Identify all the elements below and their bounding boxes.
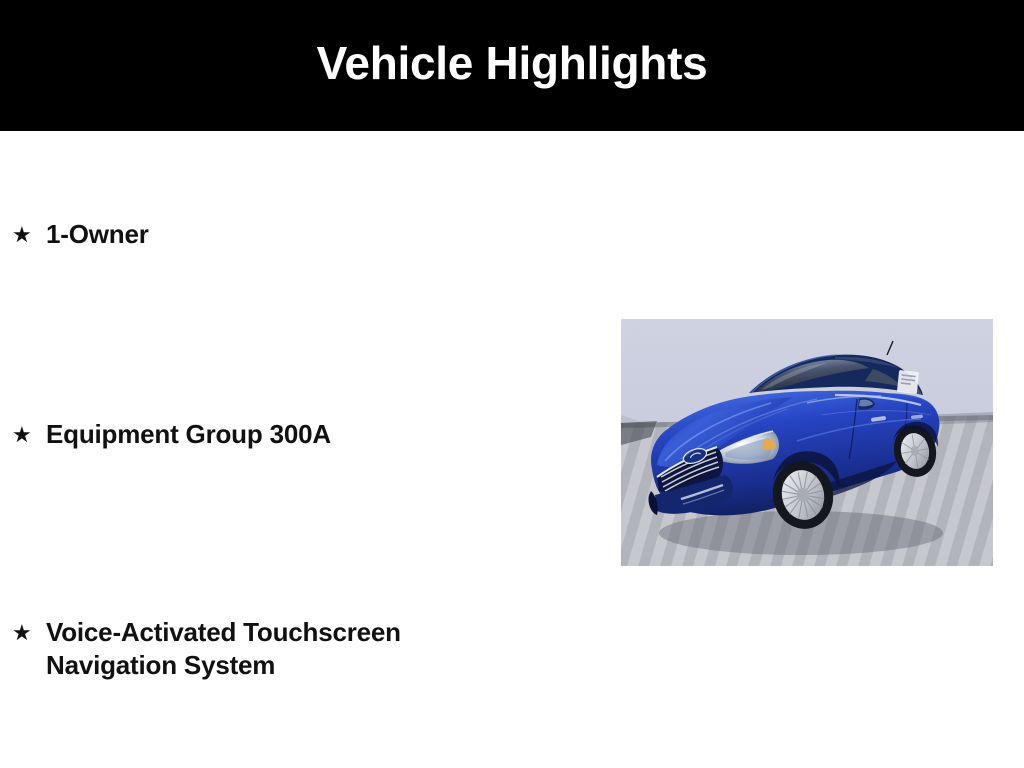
page-title: Vehicle Highlights	[317, 40, 708, 92]
highlight-label: 1-Owner	[46, 218, 149, 251]
vehicle-photo	[621, 319, 993, 566]
list-item: ★ Equipment Group 300A	[12, 418, 331, 451]
header-bar: Vehicle Highlights	[0, 0, 1024, 131]
star-bullet-icon: ★	[12, 218, 46, 251]
list-item: ★ 1-Owner	[12, 218, 149, 251]
star-bullet-icon: ★	[12, 616, 46, 649]
vehicle-photo-illustration	[621, 319, 993, 566]
star-bullet-icon: ★	[12, 418, 46, 451]
highlight-label: Equipment Group 300A	[46, 418, 331, 451]
list-item: ★ Voice-Activated Touchscreen Navigation…	[12, 616, 401, 682]
highlight-label: Voice-Activated Touchscreen Navigation S…	[46, 616, 401, 682]
